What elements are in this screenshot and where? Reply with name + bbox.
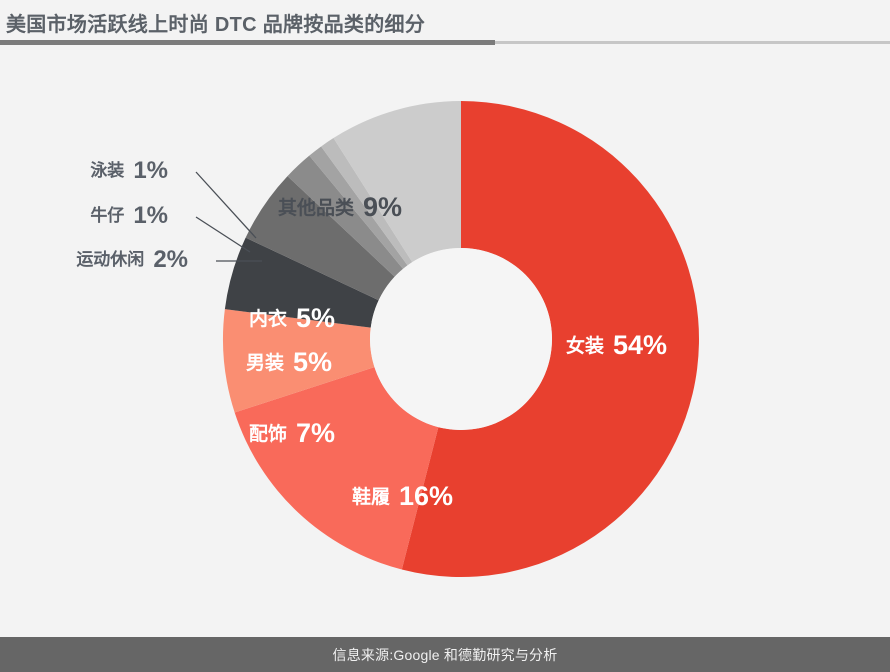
svg-text:牛仔1%: 牛仔1% bbox=[90, 202, 168, 229]
svg-text:运动休闲2%: 运动休闲2% bbox=[76, 246, 188, 273]
donut-chart: 女装54%鞋履16%配饰7%男装5%内衣5%运动休闲2%牛仔1%泳装1%其他品类… bbox=[0, 0, 890, 640]
slice-label-value: 7% bbox=[296, 418, 335, 448]
slice-label-name: 男装 bbox=[246, 351, 284, 374]
slice-label-name: 鞋履 bbox=[352, 485, 390, 508]
donut-chart-svg: 女装54%鞋履16%配饰7%男装5%内衣5%运动休闲2%牛仔1%泳装1%其他品类… bbox=[0, 0, 890, 640]
slice-label-value: 1% bbox=[133, 202, 168, 229]
slice-label: 牛仔1% bbox=[90, 202, 168, 229]
leader-line bbox=[196, 172, 256, 238]
slice-label-name: 牛仔 bbox=[90, 205, 124, 225]
chart-page: 美国市场活跃线上时尚 DTC 品牌按品类的细分 女装54%鞋履16%配饰7%男装… bbox=[0, 0, 890, 672]
slice-label-value: 5% bbox=[293, 347, 332, 377]
slice-label-name: 运动休闲 bbox=[76, 249, 144, 269]
slice-label-name: 泳装 bbox=[90, 160, 124, 180]
slice-label-name: 女装 bbox=[566, 334, 604, 357]
svg-text:泳装1%: 泳装1% bbox=[90, 157, 168, 184]
donut-hole bbox=[370, 248, 552, 430]
slice-label: 运动休闲2% bbox=[76, 246, 188, 273]
slice-label-value: 16% bbox=[399, 481, 453, 511]
slice-label-name: 配饰 bbox=[249, 422, 287, 445]
source-text: 信息来源:Google 和德勤研究与分析 bbox=[333, 645, 558, 665]
slice-label: 泳装1% bbox=[90, 157, 168, 184]
slice-label-value: 9% bbox=[363, 192, 402, 222]
slice-label-value: 2% bbox=[153, 246, 188, 273]
slice-label-value: 1% bbox=[133, 157, 168, 184]
slice-label-value: 5% bbox=[296, 303, 335, 333]
slice-label-value: 54% bbox=[613, 330, 667, 360]
slice-label-name: 内衣 bbox=[249, 307, 287, 330]
source-bar: 信息来源:Google 和德勤研究与分析 bbox=[0, 637, 890, 672]
slice-label-name: 其他品类 bbox=[278, 196, 354, 219]
